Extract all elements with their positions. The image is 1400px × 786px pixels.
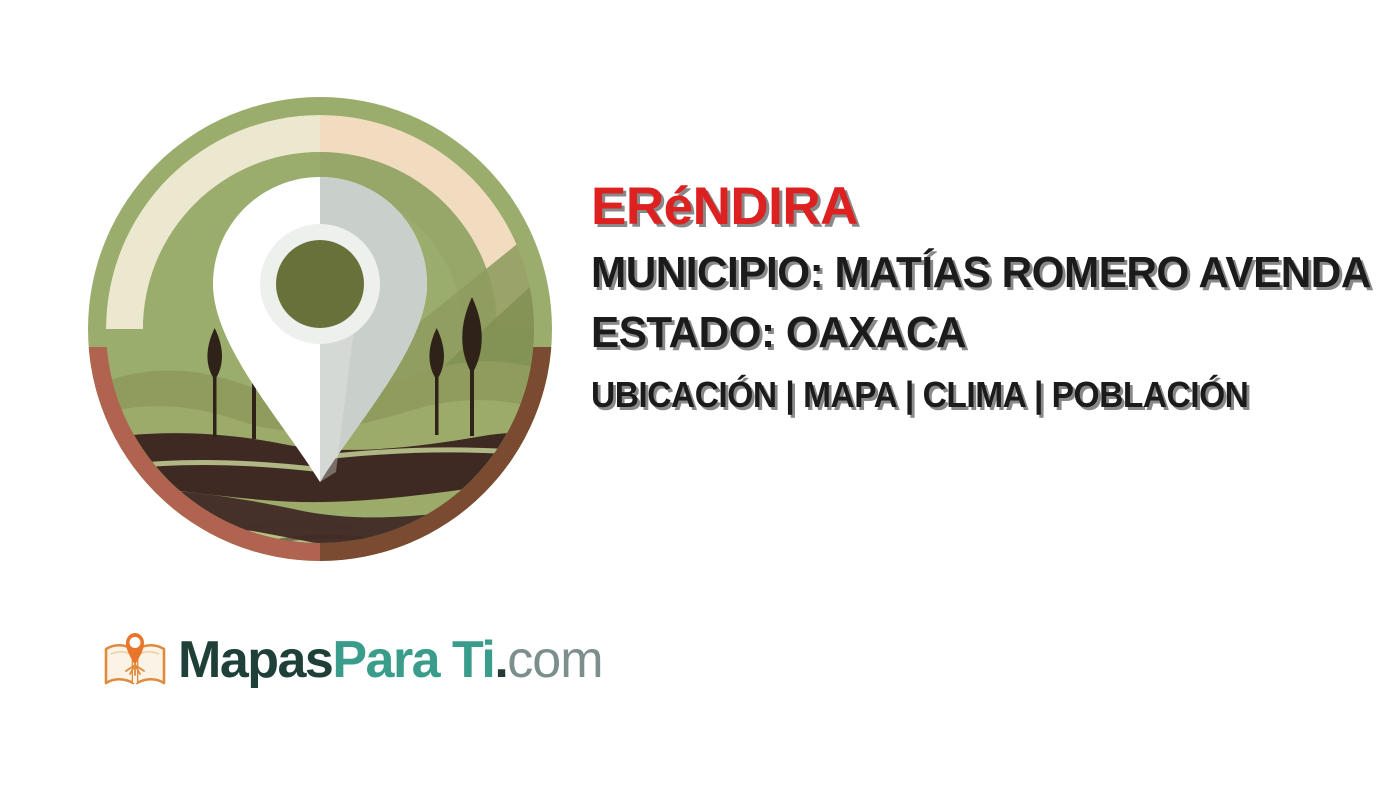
info-text-block: ERéNDIRA MUNICIPIO: MATÍAS ROMERO AVENDA… bbox=[591, 180, 1400, 413]
brand-logo[interactable]: MapasPara Ti.com bbox=[100, 620, 603, 700]
brand-part-period: . bbox=[494, 631, 507, 689]
brand-part-mapas: Mapas bbox=[178, 631, 332, 689]
brand-part-parati: Para Ti bbox=[332, 631, 494, 689]
brand-part-com: com bbox=[507, 631, 602, 689]
page-title: ERéNDIRA bbox=[591, 180, 1400, 233]
open-book-map-pin-icon bbox=[100, 625, 170, 695]
brand-wordmark: MapasPara Ti.com bbox=[178, 634, 603, 686]
page-root: ERéNDIRA MUNICIPIO: MATÍAS ROMERO AVENDA… bbox=[0, 0, 1400, 786]
municipio-line: MUNICIPIO: MATÍAS ROMERO AVENDA bbox=[591, 251, 1378, 295]
section-links: UBICACIÓN | MAPA | CLIMA | POBLACIÓN bbox=[591, 377, 1354, 413]
landscape-location-pin-emblem bbox=[83, 92, 557, 566]
estado-line: ESTADO: OAXACA bbox=[591, 311, 1378, 355]
